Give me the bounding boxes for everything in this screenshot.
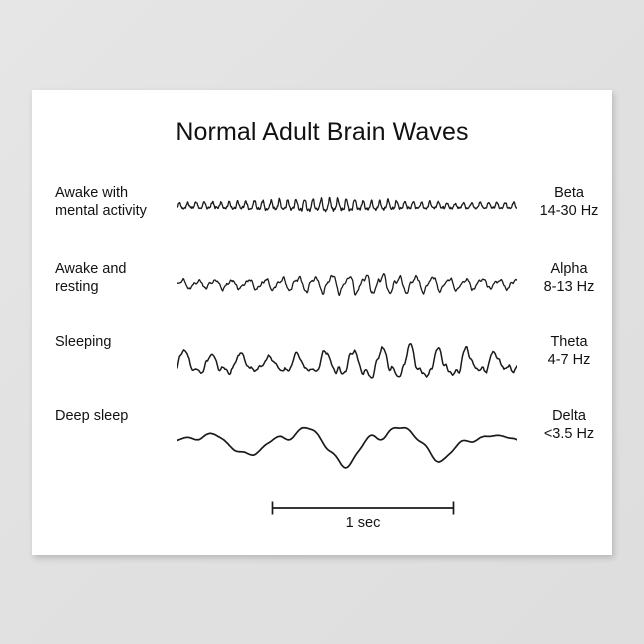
state-label-line2: resting xyxy=(55,278,185,296)
state-label: Awake with mental activity xyxy=(55,184,185,220)
band-label: Beta 14-30 Hz xyxy=(530,184,608,220)
band-label: Theta 4-7 Hz xyxy=(530,333,608,369)
band-name: Beta xyxy=(530,184,608,202)
waveform-theta xyxy=(177,333,517,395)
waveform-beta xyxy=(177,184,517,228)
state-label: Sleeping xyxy=(55,333,185,351)
band-name: Delta xyxy=(530,407,608,425)
waveform-delta xyxy=(177,407,517,479)
scale-bar-label: 1 sec xyxy=(268,515,458,531)
state-label-line2: mental activity xyxy=(55,202,185,220)
band-frequency: 4-7 Hz xyxy=(530,351,608,369)
waveform-alpha xyxy=(177,260,517,308)
state-label-line1: Awake and xyxy=(55,260,185,278)
band-frequency: 8-13 Hz xyxy=(530,278,608,296)
poster-content: Normal Adult Brain Waves Awake with ment… xyxy=(32,90,612,555)
state-label: Awake and resting xyxy=(55,260,185,296)
poster: Normal Adult Brain Waves Awake with ment… xyxy=(32,90,612,555)
band-label: Alpha 8-13 Hz xyxy=(530,260,608,296)
page-title: Normal Adult Brain Waves xyxy=(32,118,612,147)
state-label-line1: Sleeping xyxy=(55,333,185,351)
band-name: Theta xyxy=(530,333,608,351)
band-name: Alpha xyxy=(530,260,608,278)
state-label: Deep sleep xyxy=(55,407,185,425)
state-label-line1: Deep sleep xyxy=(55,407,185,425)
band-label: Delta <3.5 Hz xyxy=(530,407,608,443)
state-label-line1: Awake with xyxy=(55,184,185,202)
band-frequency: <3.5 Hz xyxy=(530,425,608,443)
band-frequency: 14-30 Hz xyxy=(530,202,608,220)
scale-bar-graphic xyxy=(268,500,458,516)
